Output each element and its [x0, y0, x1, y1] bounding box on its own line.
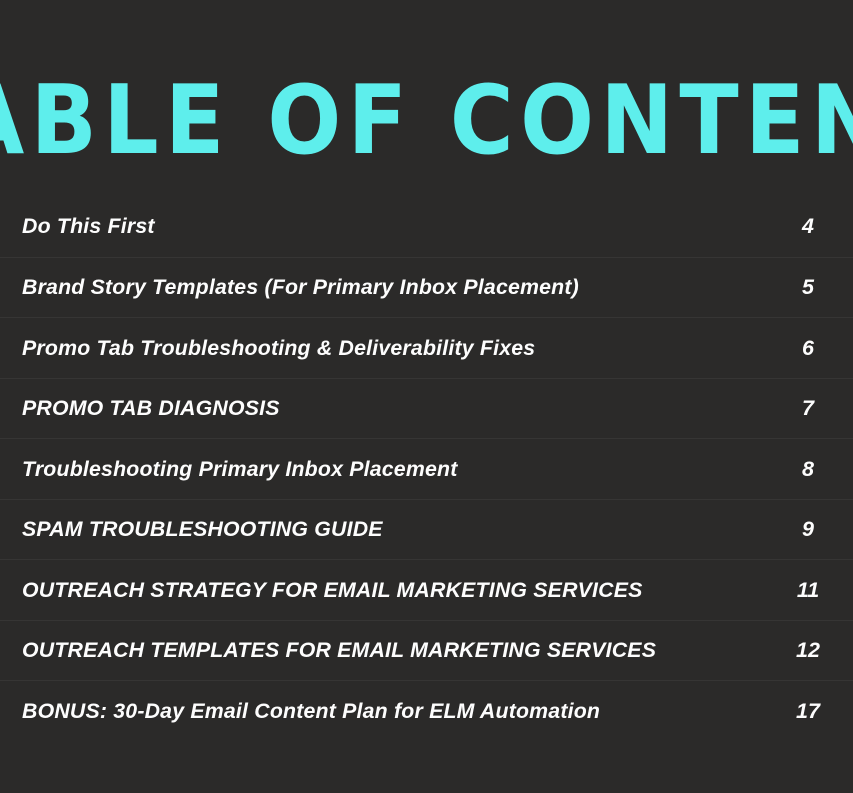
- toc-entry-page-number: 7: [785, 396, 831, 420]
- toc-row-inner: Promo Tab Troubleshooting & Deliverabili…: [22, 336, 831, 360]
- toc-entry-page-number: 9: [785, 517, 831, 541]
- toc-entry-title: Troubleshooting Primary Inbox Placement: [22, 457, 457, 481]
- toc-row-inner: Troubleshooting Primary Inbox Placement …: [22, 457, 831, 481]
- toc-entry-page-number: 12: [785, 638, 831, 662]
- toc-entry-page-number: 11: [785, 578, 831, 602]
- toc-entry-title: SPAM TROUBLESHOOTING GUIDE: [22, 517, 383, 541]
- toc-entry-title: PROMO TAB DIAGNOSIS: [22, 396, 280, 420]
- toc-entry-page-number: 6: [785, 336, 831, 360]
- toc-entry-title: OUTREACH STRATEGY FOR EMAIL MARKETING SE…: [22, 578, 643, 602]
- toc-row[interactable]: BONUS: 30-Day Email Content Plan for ELM…: [0, 680, 853, 741]
- toc-row[interactable]: Do This First 4: [0, 196, 853, 257]
- toc-row[interactable]: OUTREACH STRATEGY FOR EMAIL MARKETING SE…: [0, 559, 853, 620]
- toc-entry-list: Do This First 4 Brand Story Templates (F…: [0, 196, 853, 771]
- title-block: TABLE OF CONTENT: [0, 0, 853, 196]
- toc-row[interactable]: SPAM TROUBLESHOOTING GUIDE 9: [0, 499, 853, 560]
- bottom-spacer: [0, 771, 853, 793]
- toc-row-inner: Brand Story Templates (For Primary Inbox…: [22, 275, 831, 299]
- toc-entry-title: OUTREACH TEMPLATES FOR EMAIL MARKETING S…: [22, 638, 656, 662]
- toc-entry-title: BONUS: 30-Day Email Content Plan for ELM…: [22, 699, 600, 723]
- toc-row[interactable]: Brand Story Templates (For Primary Inbox…: [0, 257, 853, 318]
- toc-entry-title: Brand Story Templates (For Primary Inbox…: [22, 275, 579, 299]
- toc-entry-page-number: 8: [785, 457, 831, 481]
- toc-row[interactable]: PROMO TAB DIAGNOSIS 7: [0, 378, 853, 439]
- toc-row-inner: Do This First 4: [22, 214, 831, 238]
- toc-entry-title: Do This First: [22, 214, 155, 238]
- toc-entry-page-number: 4: [785, 214, 831, 238]
- toc-row[interactable]: OUTREACH TEMPLATES FOR EMAIL MARKETING S…: [0, 620, 853, 681]
- toc-row[interactable]: Troubleshooting Primary Inbox Placement …: [0, 438, 853, 499]
- toc-row-inner: SPAM TROUBLESHOOTING GUIDE 9: [22, 517, 831, 541]
- toc-entry-page-number: 5: [785, 275, 831, 299]
- toc-row-inner: BONUS: 30-Day Email Content Plan for ELM…: [22, 699, 831, 723]
- table-of-contents-page: TABLE OF CONTENT Do This First 4 Brand S…: [0, 0, 853, 793]
- page-title: TABLE OF CONTENT: [0, 73, 853, 170]
- toc-row-inner: PROMO TAB DIAGNOSIS 7: [22, 396, 831, 420]
- toc-entry-page-number: 17: [785, 699, 831, 723]
- toc-row-inner: OUTREACH TEMPLATES FOR EMAIL MARKETING S…: [22, 638, 831, 662]
- toc-row[interactable]: Promo Tab Troubleshooting & Deliverabili…: [0, 317, 853, 378]
- toc-row-inner: OUTREACH STRATEGY FOR EMAIL MARKETING SE…: [22, 578, 831, 602]
- toc-entry-title: Promo Tab Troubleshooting & Deliverabili…: [22, 336, 535, 360]
